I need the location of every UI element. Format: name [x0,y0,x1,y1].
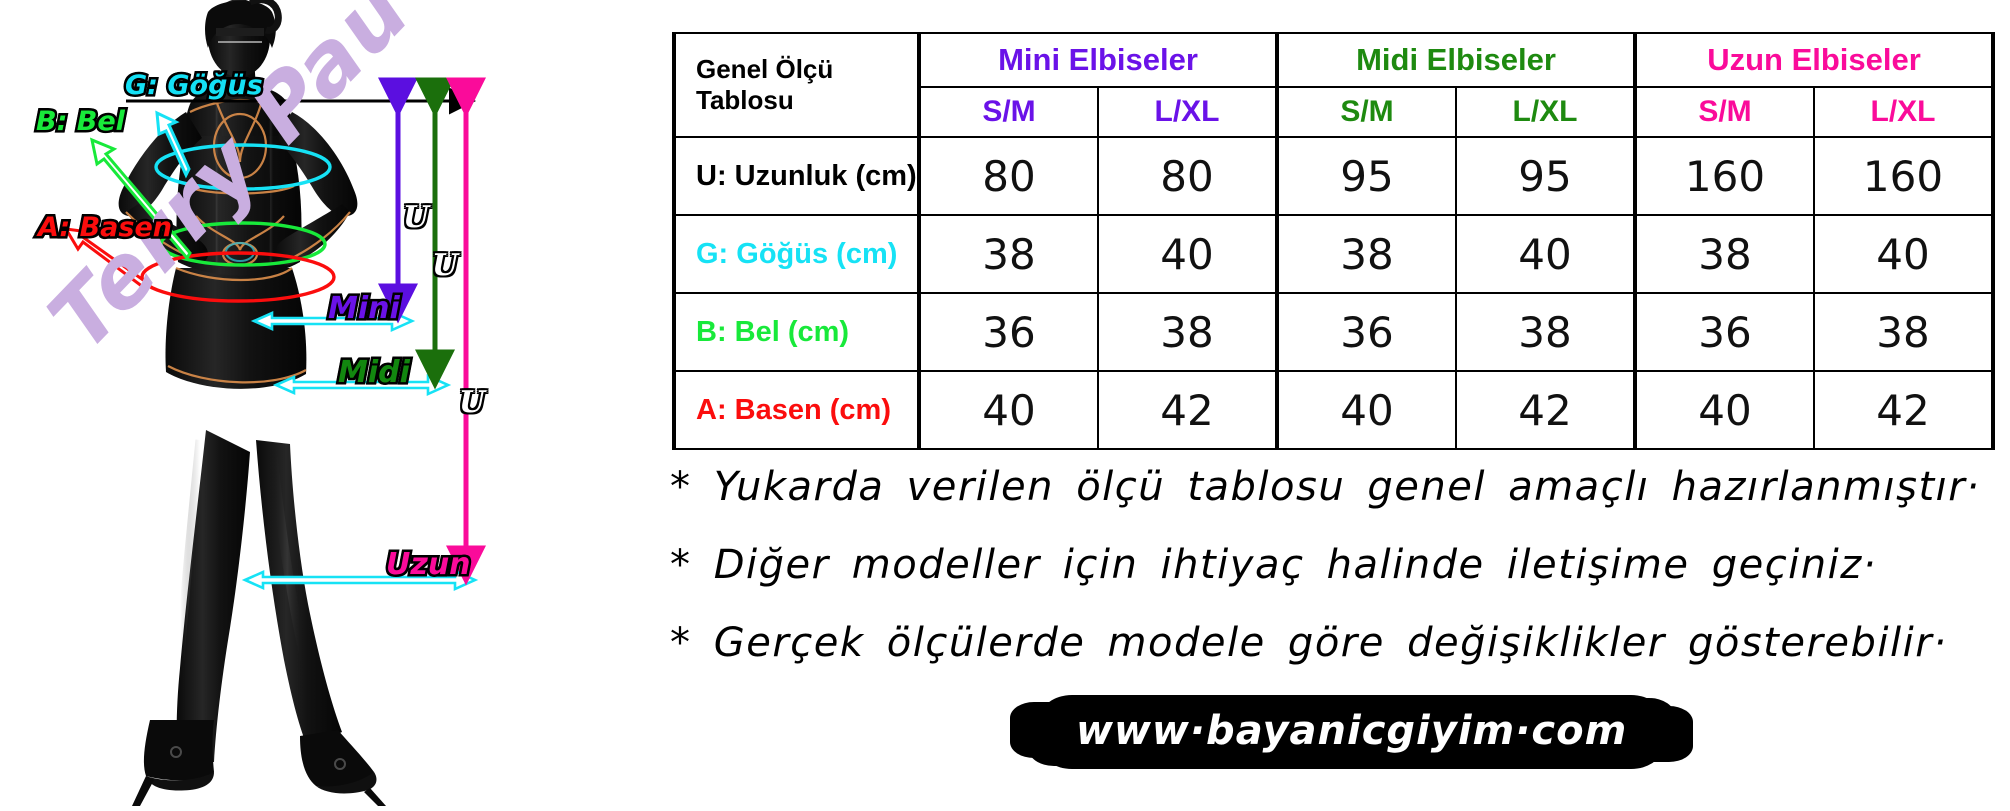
label-midi: Midi [338,358,410,388]
cell-gogus-uzun-sm: 38 [1635,215,1814,293]
cell-gogus-mini-lxl: 40 [1098,215,1277,293]
label-uzun-text: Uzun [386,547,471,582]
label-basen-text: A: Basen [38,212,172,243]
note-line-1: * Yukarda verilen ölçü tablosu genel ama… [670,448,2010,526]
cell-bel-uzun-sm: 36 [1635,293,1814,371]
size-header-uzun-lxl: L/XL [1814,87,1993,137]
cell-gogus-uzun-lxl: 40 [1814,215,1993,293]
cell-gogus-mini-sm: 38 [919,215,1098,293]
cell-bel-mini-lxl: 38 [1098,293,1277,371]
row-label-gogus: G: Göğüs (cm) [674,215,919,293]
size-header-mini-sm: S/M [919,87,1098,137]
size-header-midi-sm: S/M [1277,87,1456,137]
cell-basen-midi-lxl: 42 [1456,371,1635,449]
cell-bel-midi-lxl: 38 [1456,293,1635,371]
cell-uzunluk-uzun-lxl: 160 [1814,137,1993,215]
size-table: Genel Ölçü Tablosu Mini Elbiseler Midi E… [672,32,1995,450]
cell-bel-midi-sm: 36 [1277,293,1456,371]
label-gogus-text: G: Göğüs [125,70,263,101]
cell-basen-mini-lxl: 42 [1098,371,1277,449]
label-basen: A: Basen [38,214,172,241]
info-panel: Genel Ölçü Tablosu Mini Elbiseler Midi E… [660,0,2010,811]
note-line-3: * Gerçek ölçülerde modele göre değişikli… [670,604,2010,682]
table-group-header-row: Genel Ölçü Tablosu Mini Elbiseler Midi E… [674,33,1993,87]
length-mark-midi: U [432,248,458,283]
label-midi-text: Midi [338,355,410,390]
label-mini-text: Mini [328,291,400,326]
row-label-basen: A: Basen (cm) [674,371,919,449]
size-header-mini-lxl: L/XL [1098,87,1277,137]
cell-uzunluk-mini-lxl: 80 [1098,137,1277,215]
table-row: U: Uzunluk (cm) 80 80 95 95 160 160 [674,137,1993,215]
row-label-bel: B: Bel (cm) [674,293,919,371]
cell-uzunluk-midi-sm: 95 [1277,137,1456,215]
size-header-uzun-sm: S/M [1635,87,1814,137]
cell-uzunluk-mini-sm: 80 [919,137,1098,215]
label-mini: Mini [328,294,400,324]
group-header-uzun: Uzun Elbiseler [1635,33,1993,87]
label-bel: B: Bel [36,108,125,135]
group-header-mini: Mini Elbiseler [919,33,1277,87]
size-chart-page: Terry Pau G: Göğüs B: Bel A: Basen Mini … [0,0,2010,811]
cell-uzunluk-uzun-sm: 160 [1635,137,1814,215]
table-row: G: Göğüs (cm) 38 40 38 40 38 40 [674,215,1993,293]
length-mark-uzun: U [459,385,485,420]
cell-basen-uzun-sm: 40 [1635,371,1814,449]
size-header-midi-lxl: L/XL [1456,87,1635,137]
table-row: A: Basen (cm) 40 42 40 42 40 42 [674,371,1993,449]
cell-basen-mini-sm: 40 [919,371,1098,449]
model-illustration-panel: Terry Pau G: Göğüs B: Bel A: Basen Mini … [0,0,660,811]
cell-bel-uzun-lxl: 38 [1814,293,1993,371]
label-gogus: G: Göğüs [125,72,263,99]
website-url-banner[interactable]: www·bayanicgiyim·com [1042,698,1661,766]
cell-uzunluk-midi-lxl: 95 [1456,137,1635,215]
website-url-text: www·bayanicgiyim·com [1076,708,1627,754]
row-label-uzunluk: U: Uzunluk (cm) [674,137,919,215]
cell-basen-midi-sm: 40 [1277,371,1456,449]
notes-block: * Yukarda verilen ölçü tablosu genel ama… [670,448,2010,682]
cell-bel-mini-sm: 36 [919,293,1098,371]
cell-gogus-midi-lxl: 40 [1456,215,1635,293]
group-header-midi: Midi Elbiseler [1277,33,1635,87]
note-line-2: * Diğer modeller için ihtiyaç halinde il… [670,526,2010,604]
cell-basen-uzun-lxl: 42 [1814,371,1993,449]
cell-gogus-midi-sm: 38 [1277,215,1456,293]
label-uzun: Uzun [386,550,471,580]
length-mark-mini: U [403,200,429,235]
label-bel-text: B: Bel [36,106,125,137]
table-row: B: Bel (cm) 36 38 36 38 36 38 [674,293,1993,371]
table-corner-label: Genel Ölçü Tablosu [674,33,919,137]
